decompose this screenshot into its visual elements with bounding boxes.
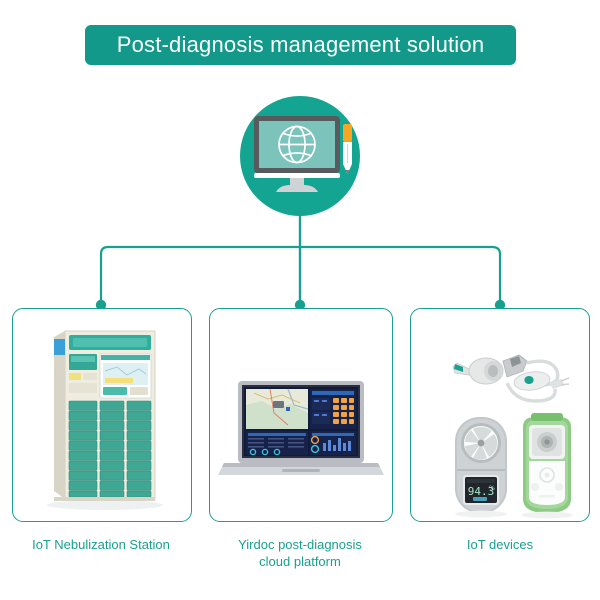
smart-locker-kiosk-art <box>13 309 191 521</box>
monitor-globe-pencil-icon <box>240 96 360 216</box>
spirometer-unit: % <box>489 485 495 492</box>
nebulizer-mask-tubing-icon <box>453 355 569 401</box>
caption-iot-devices: IoT devices <box>399 536 600 553</box>
caption-line: cloud platform <box>199 553 401 570</box>
page-title: Post-diagnosis management solution <box>117 32 485 58</box>
portable-mesh-nebulizer-icon <box>523 413 571 513</box>
card-iot-devices[interactable]: 94.3 % <box>410 308 590 522</box>
handheld-spirometer-icon: 94.3 % <box>455 417 507 513</box>
caption-line: IoT devices <box>399 536 600 553</box>
medical-iot-devices-art: 94.3 % <box>411 309 589 521</box>
caption-iot-nebulization-station: IoT Nebulization Station <box>0 536 202 553</box>
hub-node <box>240 96 360 216</box>
caption-yirdoc-cloud-platform: Yirdoc post-diagnosis cloud platform <box>199 536 401 570</box>
diagram-canvas: Post-diagnosis management solution <box>0 0 600 600</box>
page-title-banner: Post-diagnosis management solution <box>85 25 516 65</box>
caption-line: Yirdoc post-diagnosis <box>199 536 401 553</box>
card-iot-nebulization-station[interactable] <box>12 308 192 522</box>
laptop-dashboard-art <box>210 309 392 521</box>
card-yirdoc-cloud-platform[interactable] <box>209 308 393 522</box>
caption-line: IoT Nebulization Station <box>0 536 202 553</box>
